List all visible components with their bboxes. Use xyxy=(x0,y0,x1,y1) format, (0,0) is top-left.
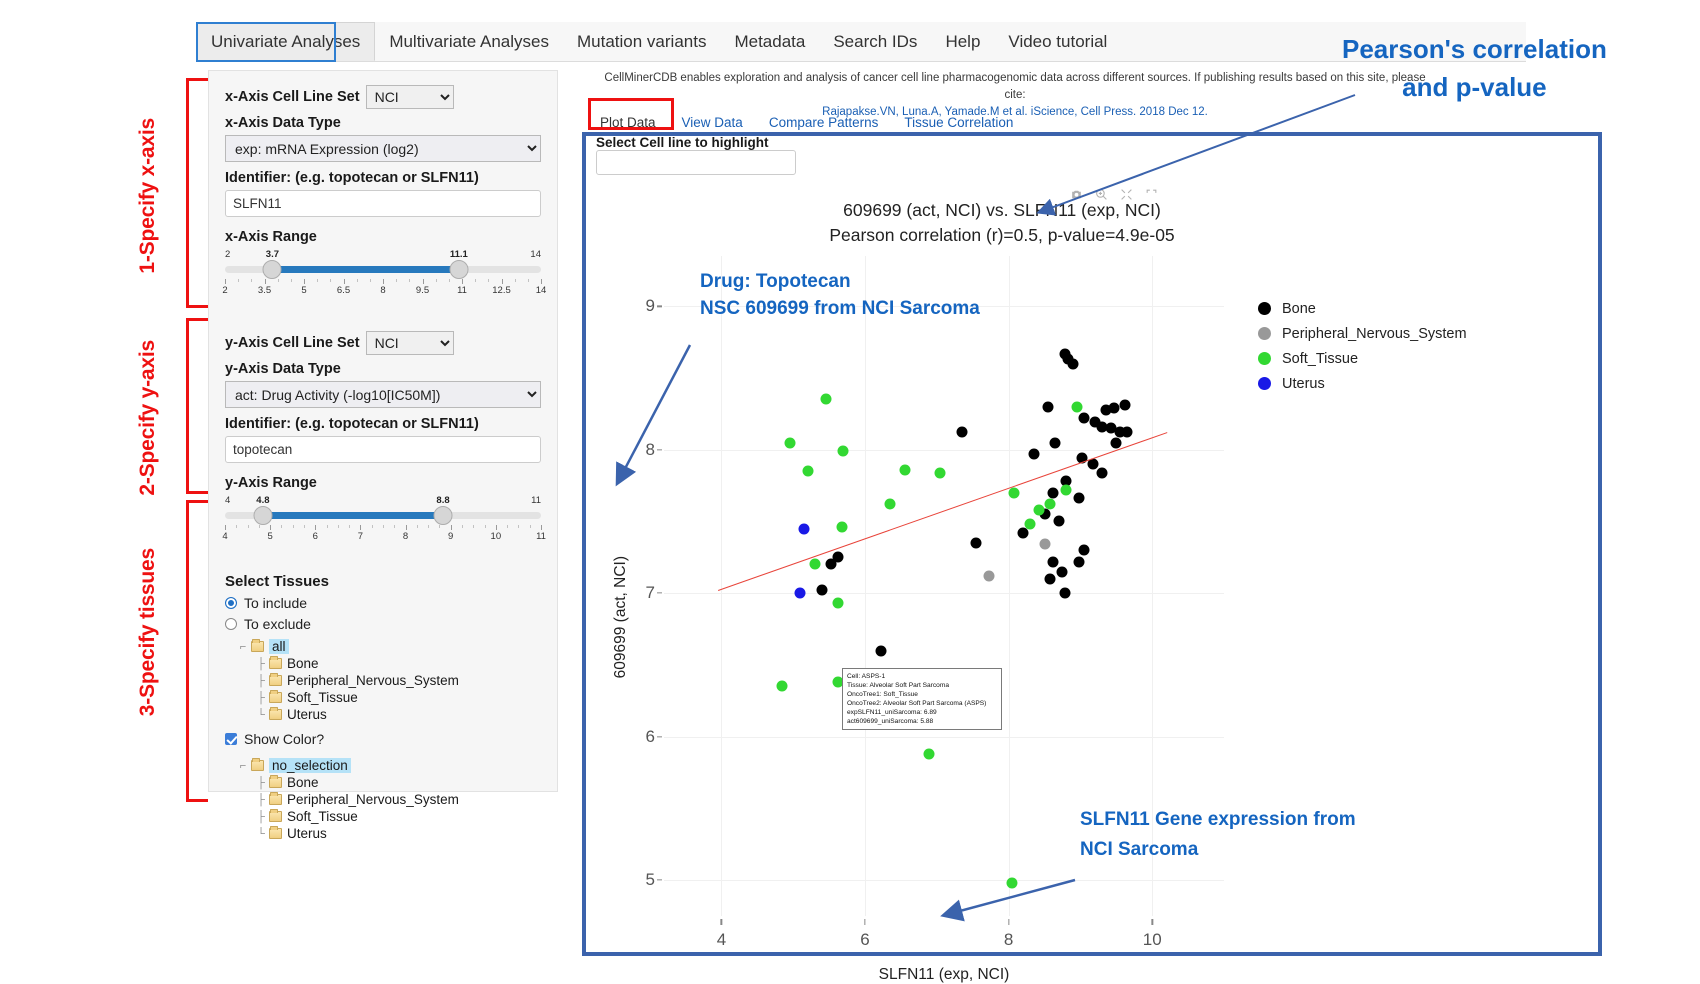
gridline-horizontal xyxy=(664,450,1224,451)
legend-item-uterus[interactable]: Uterus xyxy=(1258,371,1467,396)
x-range-high-value: 11.1 xyxy=(450,249,468,260)
slider-tick-minor xyxy=(530,525,531,528)
slider-tick xyxy=(225,525,226,530)
slider-tick-label: 8 xyxy=(380,285,385,296)
nav-tab-video-tutorial[interactable]: Video tutorial xyxy=(994,22,1121,61)
slider-tick-minor xyxy=(488,279,489,282)
slider-tick xyxy=(502,279,503,284)
nav-tab-label: Univariate Analyses xyxy=(211,31,360,53)
legend-item-peripheral_nervous_system[interactable]: Peripheral_Nervous_System xyxy=(1258,321,1467,346)
scatter-point-bone[interactable] xyxy=(816,585,827,596)
legend-color-swatch xyxy=(1258,377,1271,390)
checkbox-icon xyxy=(225,733,237,745)
scatter-point-bone[interactable] xyxy=(1096,467,1107,478)
slider-tick-minor xyxy=(236,525,237,528)
nav-tab-help[interactable]: Help xyxy=(931,22,994,61)
folder-icon xyxy=(269,811,282,822)
scatter-point-bone[interactable] xyxy=(956,427,967,438)
scatter-point-soft_tissue[interactable] xyxy=(1025,519,1036,530)
folder-icon xyxy=(269,828,282,839)
x-axis-range-slider[interactable]: 2 14 3.7 11.1 23.556.589.51112.514 xyxy=(225,249,541,307)
slider-tick-minor xyxy=(449,279,450,282)
scatter-point-bone[interactable] xyxy=(1073,556,1084,567)
show-color-checkbox-row[interactable]: Show Color? xyxy=(225,731,541,747)
x-axis-data-type-select[interactable]: exp: mRNA Expression (log2) xyxy=(225,135,541,162)
slider-tick-minor xyxy=(372,525,373,528)
folder-icon xyxy=(251,641,264,652)
y-axis-label: 609699 (act, NCI) xyxy=(612,556,630,678)
slider-tick-label: 4 xyxy=(222,531,227,542)
scatter-point-uterus[interactable] xyxy=(795,588,806,599)
slider-tick-minor xyxy=(238,279,239,282)
scatter-point-bone[interactable] xyxy=(1053,516,1064,527)
tree-branch-icon: ├ xyxy=(253,811,269,823)
slider-tick-minor xyxy=(396,279,397,282)
y-axis-data-type-select[interactable]: act: Drug Activity (-log10[IC50M]) xyxy=(225,381,541,408)
nav-tab-mutation-variants[interactable]: Mutation variants xyxy=(563,22,720,61)
tooltip-oncotree1: OncoTree1: Soft_Tissue xyxy=(847,690,997,699)
slider-tick-minor xyxy=(475,279,476,282)
slider-tick xyxy=(451,525,452,530)
tree-branch-icon: ├ xyxy=(253,777,269,789)
legend-label: Uterus xyxy=(1282,376,1325,392)
scatter-point-soft_tissue[interactable] xyxy=(832,598,843,609)
tooltip-tissue: Tissue: Alveolar Soft Part Sarcoma xyxy=(847,681,997,690)
scatter-point-bone[interactable] xyxy=(1079,545,1090,556)
scatter-point-bone[interactable] xyxy=(1111,437,1122,448)
tree-branch-icon: └ xyxy=(253,828,269,840)
tree-node-label: Soft_Tissue xyxy=(287,809,358,824)
scatter-point-peripheral_nervous_system[interactable] xyxy=(983,570,994,581)
legend-color-swatch xyxy=(1258,327,1271,340)
slider-tick-minor xyxy=(528,279,529,282)
scatter-point-uterus[interactable] xyxy=(799,523,810,534)
scatter-point-soft_tissue[interactable] xyxy=(809,559,820,570)
y-axis-tick-mark xyxy=(657,449,662,450)
folder-icon xyxy=(269,692,282,703)
scatter-point-peripheral_nervous_system[interactable] xyxy=(1039,539,1050,550)
gridline-vertical xyxy=(721,256,722,916)
folder-icon xyxy=(269,794,282,805)
tree2-node-soft-tissue[interactable]: ├ Soft_Tissue xyxy=(253,808,541,825)
legend-label: Soft_Tissue xyxy=(1282,351,1358,367)
nav-tab-search-ids[interactable]: Search IDs xyxy=(819,22,931,61)
tree2-node-peripheral-nervous-system[interactable]: ├ Peripheral_Nervous_System xyxy=(253,791,541,808)
plot-legend: BonePeripheral_Nervous_SystemSoft_Tissue… xyxy=(1258,296,1467,396)
nav-tab-univariate-analyses[interactable]: Univariate Analyses xyxy=(196,22,375,61)
tree-children-all: ├ Bone ├ Peripheral_Nervous_System ├ Sof… xyxy=(253,655,541,723)
y-axis-identifier-label: Identifier: (e.g. topotecan or SLFN11) xyxy=(225,416,541,432)
scatter-point-bone[interactable] xyxy=(1043,401,1054,412)
tree-node-bone[interactable]: ├ Bone xyxy=(253,655,541,672)
point-tooltip: Cell: ASPS-1 Tissue: Alveolar Soft Part … xyxy=(842,668,1002,730)
radio-to-exclude-label: To exclude xyxy=(244,616,311,632)
y-axis-range-slider[interactable]: 4 11 4.8 8.8 4567891011 xyxy=(225,495,541,553)
slider-tick-label: 6.5 xyxy=(337,285,350,296)
step-1-label: 1-Specify x-axis xyxy=(136,118,160,274)
slider-tick-minor xyxy=(248,525,249,528)
x-slider-tick-labels: 23.556.589.51112.514 xyxy=(225,285,541,299)
x-axis-label: SLFN11 (exp, NCI) xyxy=(664,966,1224,984)
scatter-point-bone[interactable] xyxy=(832,552,843,563)
tree-expander-icon[interactable]: ⌐ xyxy=(235,641,251,653)
nav-tab-multivariate-analyses[interactable]: Multivariate Analyses xyxy=(375,22,563,61)
x-axis-cell-line-set-select[interactable]: NCI xyxy=(366,85,454,109)
slider-tick-label: 11 xyxy=(536,531,546,542)
x-range-low-value: 3.7 xyxy=(266,249,279,260)
scatter-point-soft_tissue[interactable] xyxy=(820,394,831,405)
scatter-point-bone[interactable] xyxy=(1122,427,1133,438)
slider-tick-minor xyxy=(394,525,395,528)
step-3-bracket xyxy=(186,500,208,802)
tree-node-peripheral-nervous-system[interactable]: ├ Peripheral_Nervous_System xyxy=(253,672,541,689)
slider-tick-label: 7 xyxy=(358,531,363,542)
y-axis-cell-line-set-label: y-Axis Cell Line Set xyxy=(225,335,360,351)
tree-branch-icon: ├ xyxy=(253,794,269,806)
slider-tick-minor xyxy=(518,525,519,528)
y-axis-tick-label: 8 xyxy=(646,440,655,460)
slider-tick-label: 14 xyxy=(536,285,547,296)
slider-tick-minor xyxy=(417,525,418,528)
step-1-bracket xyxy=(186,78,208,308)
regression-trendline xyxy=(718,432,1167,591)
slider-tick-minor xyxy=(515,279,516,282)
y-axis-data-type-label: y-Axis Data Type xyxy=(225,361,541,377)
folder-icon xyxy=(251,760,264,771)
slider-tick xyxy=(225,279,226,284)
tree2-node-bone[interactable]: ├ Bone xyxy=(253,774,541,791)
tree2-node-uterus[interactable]: └ Uterus xyxy=(253,825,541,842)
slider-tick-label: 8 xyxy=(403,531,408,542)
slider-tick-label: 10 xyxy=(491,531,502,542)
tree-node-soft-tissue[interactable]: ├ Soft_Tissue xyxy=(253,689,541,706)
scatter-point-bone[interactable] xyxy=(1059,588,1070,599)
scatter-point-bone[interactable] xyxy=(1068,358,1079,369)
step-2-bracket xyxy=(186,318,208,494)
nav-tab-label: Multivariate Analyses xyxy=(389,31,549,53)
slider-tick-minor xyxy=(259,525,260,528)
scatter-point-soft_tissue[interactable] xyxy=(899,464,910,475)
x-axis-cell-line-set-row: x-Axis Cell Line Set NCI xyxy=(225,85,541,109)
scatter-point-bone[interactable] xyxy=(1048,487,1059,498)
radio-exclude-icon xyxy=(225,618,237,630)
x-slider-handle-high[interactable] xyxy=(449,260,468,279)
nav-tab-label: Metadata xyxy=(734,31,805,53)
slider-tick xyxy=(304,279,305,284)
tree-branch-icon: ├ xyxy=(253,675,269,687)
slider-tick-label: 5 xyxy=(301,285,306,296)
slider-tick-minor xyxy=(278,279,279,282)
scatter-point-bone[interactable] xyxy=(1073,493,1084,504)
legend-color-swatch xyxy=(1258,302,1271,315)
slider-tick-minor xyxy=(281,525,282,528)
y-axis-tick-mark xyxy=(657,306,662,307)
tooltip-cell: Cell: ASPS-1 xyxy=(847,672,997,681)
scatter-point-soft_tissue[interactable] xyxy=(885,499,896,510)
scatter-point-soft_tissue[interactable] xyxy=(935,467,946,478)
legend-color-swatch xyxy=(1258,352,1271,365)
nav-tab-label: Video tutorial xyxy=(1008,31,1107,53)
scatter-point-bone[interactable] xyxy=(1048,556,1059,567)
subtab-tissue-correlation[interactable]: Tissue Correlation xyxy=(904,115,1013,130)
tree-children-no-selection: ├ Bone ├ Peripheral_Nervous_System ├ Sof… xyxy=(253,774,541,842)
scatter-point-soft_tissue[interactable] xyxy=(1009,487,1020,498)
y-axis-cell-line-set-row: y-Axis Cell Line Set NCI xyxy=(225,331,541,355)
tree-branch-icon: ├ xyxy=(253,692,269,704)
tissue-tree-no-selection: ⌐ no_selection ├ Bone ├ Peripheral_Nervo… xyxy=(235,757,541,842)
scatter-point-bone[interactable] xyxy=(1057,566,1068,577)
step-3-label: 3-Specify tissues xyxy=(136,548,160,716)
x-axis-identifier-input[interactable] xyxy=(225,190,541,217)
x-axis-tick-mark xyxy=(1152,919,1153,925)
slider-tick xyxy=(360,525,361,530)
x-axis-range-label: x-Axis Range xyxy=(225,229,541,245)
tree-node-label: all xyxy=(269,639,289,654)
scatter-point-soft_tissue[interactable] xyxy=(838,446,849,457)
scatter-point-bone[interactable] xyxy=(1119,400,1130,411)
tree-node-label: Peripheral_Nervous_System xyxy=(287,673,459,688)
step-2-label: 2-Specify y-axis xyxy=(136,340,160,496)
radio-to-include[interactable]: To include xyxy=(225,595,541,611)
highlight-cellline-label: Select Cell line to highlight xyxy=(596,135,769,150)
legend-label: Bone xyxy=(1282,301,1316,317)
select-tissues-title: Select Tissues xyxy=(225,573,541,590)
tree-node-label: Uterus xyxy=(287,826,327,841)
scatter-point-bone[interactable] xyxy=(875,645,886,656)
y-axis-cell-line-set-select[interactable]: NCI xyxy=(366,331,454,355)
tooltip-exp-value: expSLFN11_uniSarcoma: 6.89 xyxy=(847,708,997,717)
slider-tick-minor xyxy=(251,279,252,282)
scatter-point-bone[interactable] xyxy=(1028,449,1039,460)
tree-node-label: Bone xyxy=(287,775,319,790)
slider-tick-label: 9 xyxy=(448,531,453,542)
scatter-point-soft_tissue[interactable] xyxy=(923,748,934,759)
tree-node-uterus[interactable]: └ Uterus xyxy=(253,706,541,723)
folder-icon xyxy=(269,709,282,720)
slider-tick xyxy=(270,525,271,530)
legend-label: Peripheral_Nervous_System xyxy=(1282,326,1467,342)
tissue-tree-include: ⌐ all ├ Bone ├ Peripheral_Nervous_System… xyxy=(235,638,541,723)
slider-tick-label: 6 xyxy=(313,531,318,542)
y-axis-tick-label: 7 xyxy=(646,583,655,603)
slider-tick xyxy=(541,279,542,284)
slider-tick xyxy=(265,279,266,284)
slider-tick-minor xyxy=(349,525,350,528)
scatter-point-soft_tissue[interactable] xyxy=(784,437,795,448)
tree-node-all[interactable]: ⌐ all xyxy=(235,638,541,655)
y-slider-handle-high[interactable] xyxy=(434,506,453,525)
x-axis-tick-label: 6 xyxy=(860,930,869,950)
controls-sidebar: x-Axis Cell Line Set NCI x-Axis Data Typ… xyxy=(208,70,558,792)
scatter-point-soft_tissue[interactable] xyxy=(1007,878,1018,889)
tree-node-label: Peripheral_Nervous_System xyxy=(287,792,459,807)
x-axis-tick-label: 4 xyxy=(717,930,726,950)
annotation-slfn11: SLFN11 Gene expression from NCI Sarcoma xyxy=(1080,805,1356,865)
subtab-plot-data[interactable]: Plot Data xyxy=(600,115,656,130)
gridline-vertical xyxy=(865,256,866,916)
slider-tick-minor xyxy=(370,279,371,282)
slider-tick-minor xyxy=(357,279,358,282)
slider-tick-minor xyxy=(317,279,318,282)
tooltip-act-value: act609699_uniSarcoma: 5.88 xyxy=(847,717,997,726)
nav-tab-metadata[interactable]: Metadata xyxy=(720,22,819,61)
scatter-point-bone[interactable] xyxy=(971,537,982,548)
scatter-point-soft_tissue[interactable] xyxy=(1071,401,1082,412)
annotation-drug: Drug: Topotecan NSC 609699 from NCI Sarc… xyxy=(700,268,980,322)
y-axis-identifier-input[interactable] xyxy=(225,436,541,463)
tree-node-label: Bone xyxy=(287,656,319,671)
annotation-pearson: Pearson's correlation and p-value xyxy=(1342,30,1607,106)
slider-tick-label: 3.5 xyxy=(258,285,271,296)
slider-tick xyxy=(406,525,407,530)
x-range-max-end-label: 14 xyxy=(530,249,541,260)
nav-tab-label: Help xyxy=(945,31,980,53)
slider-tick-minor xyxy=(327,525,328,528)
y-range-max-end-label: 11 xyxy=(531,495,541,506)
scatter-point-soft_tissue[interactable] xyxy=(777,681,788,692)
y-axis-tick-label: 9 xyxy=(646,296,655,316)
gridline-horizontal xyxy=(664,737,1224,738)
subtab-compare-patterns[interactable]: Compare Patterns xyxy=(769,115,879,130)
slider-tick xyxy=(541,525,542,530)
slider-tick-label: 12.5 xyxy=(492,285,511,296)
tree-branch-icon: ├ xyxy=(253,658,269,670)
y-axis-range-label: y-Axis Range xyxy=(225,475,541,491)
slider-tick-minor xyxy=(291,279,292,282)
x-axis-tick-label: 10 xyxy=(1143,930,1162,950)
slider-tick-minor xyxy=(507,525,508,528)
citation-line-1: CellMinerCDB enables exploration and ana… xyxy=(600,70,1430,104)
y-range-min-end-label: 4 xyxy=(225,495,230,506)
slider-tick-minor xyxy=(462,525,463,528)
x-slider-fill xyxy=(272,266,458,273)
tree-node-label: Soft_Tissue xyxy=(287,690,358,705)
slider-tick xyxy=(462,279,463,284)
scatter-point-soft_tissue[interactable] xyxy=(1045,499,1056,510)
radio-to-exclude[interactable]: To exclude xyxy=(225,616,541,632)
slider-tick-minor xyxy=(409,279,410,282)
y-range-low-value: 4.8 xyxy=(256,495,269,506)
gridline-horizontal xyxy=(664,593,1224,594)
tooltip-oncotree2: OncoTree2: Alveolar Soft Part Sarcoma (A… xyxy=(847,699,997,708)
x-axis-tick-mark xyxy=(721,919,722,925)
scatter-point-soft_tissue[interactable] xyxy=(802,466,813,477)
x-axis-data-type-label: x-Axis Data Type xyxy=(225,115,541,131)
tree-node-label: no_selection xyxy=(269,758,351,773)
slider-tick-minor xyxy=(473,525,474,528)
scatter-point-soft_tissue[interactable] xyxy=(1061,484,1072,495)
show-color-label: Show Color? xyxy=(244,731,324,747)
slider-tick-minor xyxy=(293,525,294,528)
y-slider-handle-low[interactable] xyxy=(253,506,272,525)
legend-item-bone[interactable]: Bone xyxy=(1258,296,1467,321)
highlight-cellline-input[interactable] xyxy=(596,150,796,175)
slider-tick xyxy=(496,525,497,530)
slider-tick-minor xyxy=(485,525,486,528)
x-axis-cell-line-set-label: x-Axis Cell Line Set xyxy=(225,89,360,105)
slider-tick-label: 5 xyxy=(267,531,272,542)
slider-tick xyxy=(423,279,424,284)
scatter-point-bone[interactable] xyxy=(1045,573,1056,584)
x-axis-identifier-label: Identifier: (e.g. topotecan or SLFN11) xyxy=(225,170,541,186)
y-slider-fill xyxy=(263,512,443,519)
nav-tab-label: Search IDs xyxy=(833,31,917,53)
y-axis-tick-mark xyxy=(657,879,662,880)
slider-tick-label: 11 xyxy=(457,285,467,296)
tree-node-label: Uterus xyxy=(287,707,327,722)
y-range-high-value: 8.8 xyxy=(436,495,449,506)
radio-to-include-label: To include xyxy=(244,595,307,611)
slider-tick-minor xyxy=(338,525,339,528)
y-slider-tick-labels: 4567891011 xyxy=(225,531,541,545)
y-axis-tick-mark xyxy=(657,593,662,594)
gridline-horizontal xyxy=(664,880,1224,881)
y-axis-tick-mark xyxy=(657,736,662,737)
slider-tick-label: 9.5 xyxy=(416,285,429,296)
plot-title-block: 609699 (act, NCI) vs. SLFN11 (exp, NCI) … xyxy=(586,198,1598,248)
tree-node-no-selection[interactable]: ⌐ no_selection xyxy=(235,757,541,774)
slider-tick-minor xyxy=(383,525,384,528)
plot-title: 609699 (act, NCI) vs. SLFN11 (exp, NCI) xyxy=(586,198,1418,223)
scatter-point-bone[interactable] xyxy=(1109,403,1120,414)
gridline-vertical xyxy=(1009,256,1010,916)
radio-include-icon xyxy=(225,597,237,609)
subtab-view-data[interactable]: View Data xyxy=(682,115,743,130)
slider-tick xyxy=(383,279,384,284)
folder-icon xyxy=(269,658,282,669)
slider-tick-minor xyxy=(428,525,429,528)
slider-tick-label: 2 xyxy=(222,285,227,296)
folder-icon xyxy=(269,675,282,686)
slider-tick-minor xyxy=(439,525,440,528)
slider-tick-minor xyxy=(330,279,331,282)
x-axis-tick-label: 8 xyxy=(1004,930,1013,950)
slider-tick xyxy=(344,279,345,284)
x-range-min-end-label: 2 xyxy=(225,249,230,260)
y-axis-tick-label: 6 xyxy=(646,727,655,747)
plot-subtitle-correlation: Pearson correlation (r)=0.5, p-value=4.9… xyxy=(586,223,1418,248)
scatter-point-bone[interactable] xyxy=(1050,437,1061,448)
folder-icon xyxy=(269,777,282,788)
main-navbar: Univariate Analyses Multivariate Analyse… xyxy=(196,22,1526,62)
tree-expander-icon[interactable]: ⌐ xyxy=(235,760,251,772)
x-slider-handle-low[interactable] xyxy=(263,260,282,279)
x-axis-tick-mark xyxy=(1008,919,1009,925)
tree-branch-icon: └ xyxy=(253,709,269,721)
scatter-point-soft_tissue[interactable] xyxy=(1033,504,1044,515)
slider-tick-minor xyxy=(304,525,305,528)
slider-tick xyxy=(315,525,316,530)
scatter-point-bone[interactable] xyxy=(1079,413,1090,424)
nav-tab-label: Mutation variants xyxy=(577,31,706,53)
x-axis-tick-mark xyxy=(864,919,865,925)
legend-item-soft_tissue[interactable]: Soft_Tissue xyxy=(1258,346,1467,371)
scatter-point-soft_tissue[interactable] xyxy=(837,522,848,533)
slider-tick-minor xyxy=(436,279,437,282)
y-axis-tick-label: 5 xyxy=(646,870,655,890)
